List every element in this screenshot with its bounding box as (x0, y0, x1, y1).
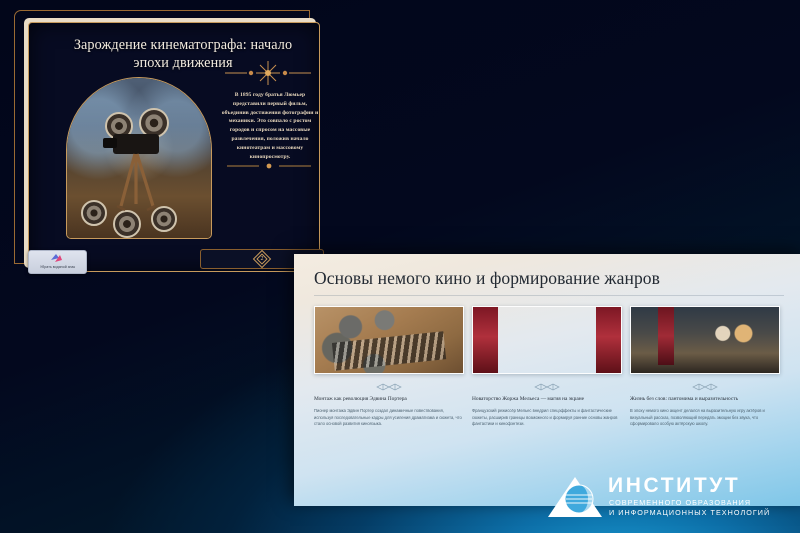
slide-2-title: Основы немого кино и формирование жанров (314, 268, 660, 289)
card-1-image (314, 306, 464, 374)
card-3-image (630, 306, 780, 374)
card-2-heading: Новаторство Жоржа Мельеса — магия на экр… (472, 396, 622, 403)
card-3-heading: Жизнь без слов: пантомима и выразительно… (630, 396, 780, 403)
logo-line-1: ИНСТИТУТ (608, 474, 740, 498)
institute-logo: ИНСТИТУТ СОВРЕМЕННОГО ОБРАЗОВАНИЯ И ИНФО… (546, 472, 794, 522)
projector-icon (67, 78, 212, 239)
diamond-bowtie-ornament-icon (372, 383, 406, 391)
card-3[interactable]: Жизнь без слов: пантомима и выразительно… (630, 306, 780, 428)
card-2[interactable]: Новаторство Жоржа Мельеса — магия на экр… (472, 306, 622, 428)
diamond-bowtie-ornament-icon (530, 383, 564, 391)
card-1[interactable]: Монтаж как революция Эдвина Портера Пион… (314, 306, 464, 428)
logo-line-3: И ИНФОРМАЦИОННЫХ ТЕХНОЛОГИЙ (609, 508, 770, 517)
slide-number: 2 (261, 256, 264, 262)
logo-line-2: СОВРЕМЕННОГО ОБРАЗОВАНИЯ (609, 498, 751, 507)
slide-1-body-text: В 1895 году братья Люмьер представили пе… (219, 91, 320, 162)
card-2-body: Французский режиссёр Мельес внедрил спец… (472, 408, 622, 428)
diamond-bowtie-ornament-icon (688, 383, 722, 391)
slide-2[interactable]: Основы немого кино и формирование жанров… (294, 254, 800, 506)
gamma-logo-icon (50, 253, 63, 264)
slide-1-photo-scene (67, 78, 211, 238)
card-1-heading: Монтаж как революция Эдвина Портера (314, 396, 464, 403)
card-1-body: Пионер монтажа Эдвин Портер создал динам… (314, 408, 464, 428)
remove-watermark-label: Убрать водяной знак (29, 265, 86, 269)
slide-2-title-rule (314, 295, 784, 296)
slide-1-photo (66, 77, 212, 239)
divider-ornament-icon (219, 161, 319, 171)
remove-watermark-button[interactable]: Убрать водяной знак (28, 250, 87, 274)
star-ornament-icon (223, 59, 313, 87)
institute-globe-triangle-icon (546, 475, 604, 519)
card-2-image (472, 306, 622, 374)
screenshot-canvas: Зарождение кинематографа: начало эпохи д… (0, 0, 800, 533)
slide-1-panel: Зарождение кинематографа: начало эпохи д… (28, 22, 320, 272)
card-3-body: В эпоху немого кино акцент делался на вы… (630, 408, 780, 428)
slide-1[interactable]: Зарождение кинематографа: начало эпохи д… (14, 6, 320, 272)
